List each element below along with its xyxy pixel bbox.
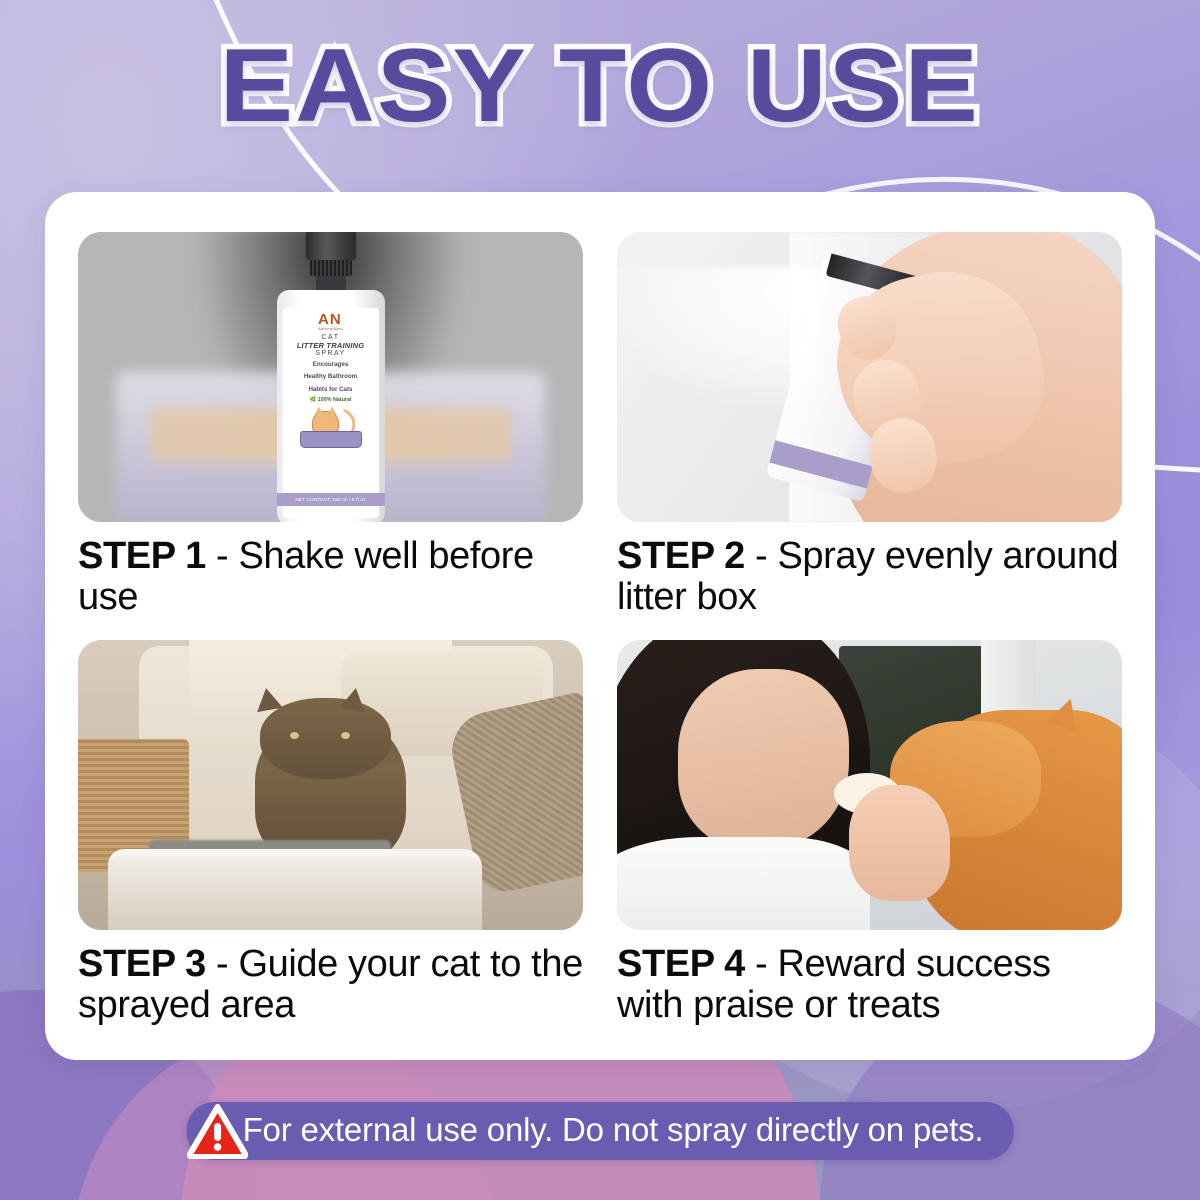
warning-triangle-icon bbox=[187, 1103, 249, 1159]
tabby-cat-head bbox=[260, 698, 391, 779]
hand-spraying-bottle-photo bbox=[617, 232, 1122, 522]
woman-rewarding-cat-photo bbox=[617, 640, 1122, 930]
tabby-cat-eye-left bbox=[290, 732, 299, 739]
brand-name: AutumnNest bbox=[318, 327, 343, 331]
cat-in-litter-box-photo bbox=[78, 640, 583, 930]
step-label-1: STEP 1 bbox=[78, 535, 206, 577]
label-line-litter-training: LITTER TRAINING bbox=[297, 341, 365, 350]
natural-claim-text: 100% Natural bbox=[318, 397, 352, 403]
steps-grid: AN AutumnNest CAT LITTER TRAINING SPRAY … bbox=[78, 232, 1122, 1038]
steps-card: AN AutumnNest CAT LITTER TRAINING SPRAY … bbox=[45, 192, 1155, 1060]
litter-box bbox=[108, 849, 482, 930]
cat-in-litterbox-illustration bbox=[300, 406, 362, 448]
step-caption-1: STEP 1 - Shake well before use bbox=[78, 536, 583, 619]
step-label-3: STEP 3 bbox=[78, 943, 206, 985]
product-bottle-shaking-photo: AN AutumnNest CAT LITTER TRAINING SPRAY … bbox=[78, 232, 583, 522]
bottle-cap bbox=[306, 232, 356, 260]
step-caption-3: STEP 3 - Guide your cat to the sprayed a… bbox=[78, 944, 583, 1027]
step-item-2: STEP 2 - Spray evenly around litter box bbox=[617, 232, 1122, 630]
step-item-3: STEP 3 - Guide your cat to the sprayed a… bbox=[78, 640, 583, 1038]
label-line-spray: SPRAY bbox=[315, 350, 345, 357]
tabby-cat-ear-right bbox=[339, 686, 368, 712]
step-separator-1: - bbox=[206, 535, 239, 577]
label-benefit-1: Encourages bbox=[313, 361, 348, 369]
step-caption-4: STEP 4 - Reward success with praise or t… bbox=[617, 944, 1122, 1027]
step-caption-2: STEP 2 - Spray evenly around litter box bbox=[617, 536, 1122, 619]
tabby-cat-ear-left bbox=[253, 686, 282, 712]
brand-logo: AN AutumnNest bbox=[318, 312, 343, 331]
step-separator-4: - bbox=[745, 943, 778, 985]
woman-hand-with-treat bbox=[849, 785, 950, 901]
label-benefit-2: Healthy Bathroom bbox=[304, 373, 357, 381]
step-item-4: STEP 4 - Reward success with praise or t… bbox=[617, 640, 1122, 1038]
woman-shirt bbox=[617, 837, 870, 930]
label-natural-claim: 🌿 100% Natural bbox=[309, 397, 351, 403]
bottle-collar bbox=[310, 260, 352, 276]
step-label-2: STEP 2 bbox=[617, 535, 745, 577]
footer-warning: For external use only. Do not spray dire… bbox=[187, 1102, 1014, 1160]
illustration-cat-ear-left bbox=[314, 407, 324, 415]
illustration-litter-tray bbox=[300, 431, 362, 448]
step-item-1: AN AutumnNest CAT LITTER TRAINING SPRAY … bbox=[78, 232, 583, 630]
warning-text: For external use only. Do not spray dire… bbox=[243, 1111, 984, 1149]
woman-face bbox=[678, 669, 850, 849]
bottle-label: AN AutumnNest CAT LITTER TRAINING SPRAY … bbox=[283, 308, 379, 518]
spray-bottle: AN AutumnNest CAT LITTER TRAINING SPRAY … bbox=[277, 232, 385, 522]
illustration-cat-ear-right bbox=[327, 407, 337, 415]
net-content-band-held bbox=[769, 440, 873, 489]
page-title: EASY TO USE bbox=[220, 34, 981, 138]
bottle-body: AN AutumnNest CAT LITTER TRAINING SPRAY … bbox=[277, 290, 385, 522]
bottle-neck bbox=[316, 276, 346, 290]
label-benefit-3: Habits for Cats bbox=[308, 386, 352, 394]
label-line-cat: CAT bbox=[321, 334, 339, 341]
spray-mist bbox=[617, 267, 819, 418]
step-separator-2: - bbox=[745, 535, 778, 577]
leaf-icon: 🌿 bbox=[309, 397, 316, 403]
tabby-cat-eye-right bbox=[341, 732, 350, 739]
page-title-wrapper: EASY TO USE bbox=[0, 34, 1200, 138]
step-label-4: STEP 4 bbox=[617, 943, 745, 985]
net-content-band: NET CONTENT: 150 ml / 5 fl oz bbox=[277, 493, 385, 506]
warning-pill: For external use only. Do not spray dire… bbox=[187, 1102, 1014, 1160]
step-separator-3: - bbox=[206, 943, 239, 985]
